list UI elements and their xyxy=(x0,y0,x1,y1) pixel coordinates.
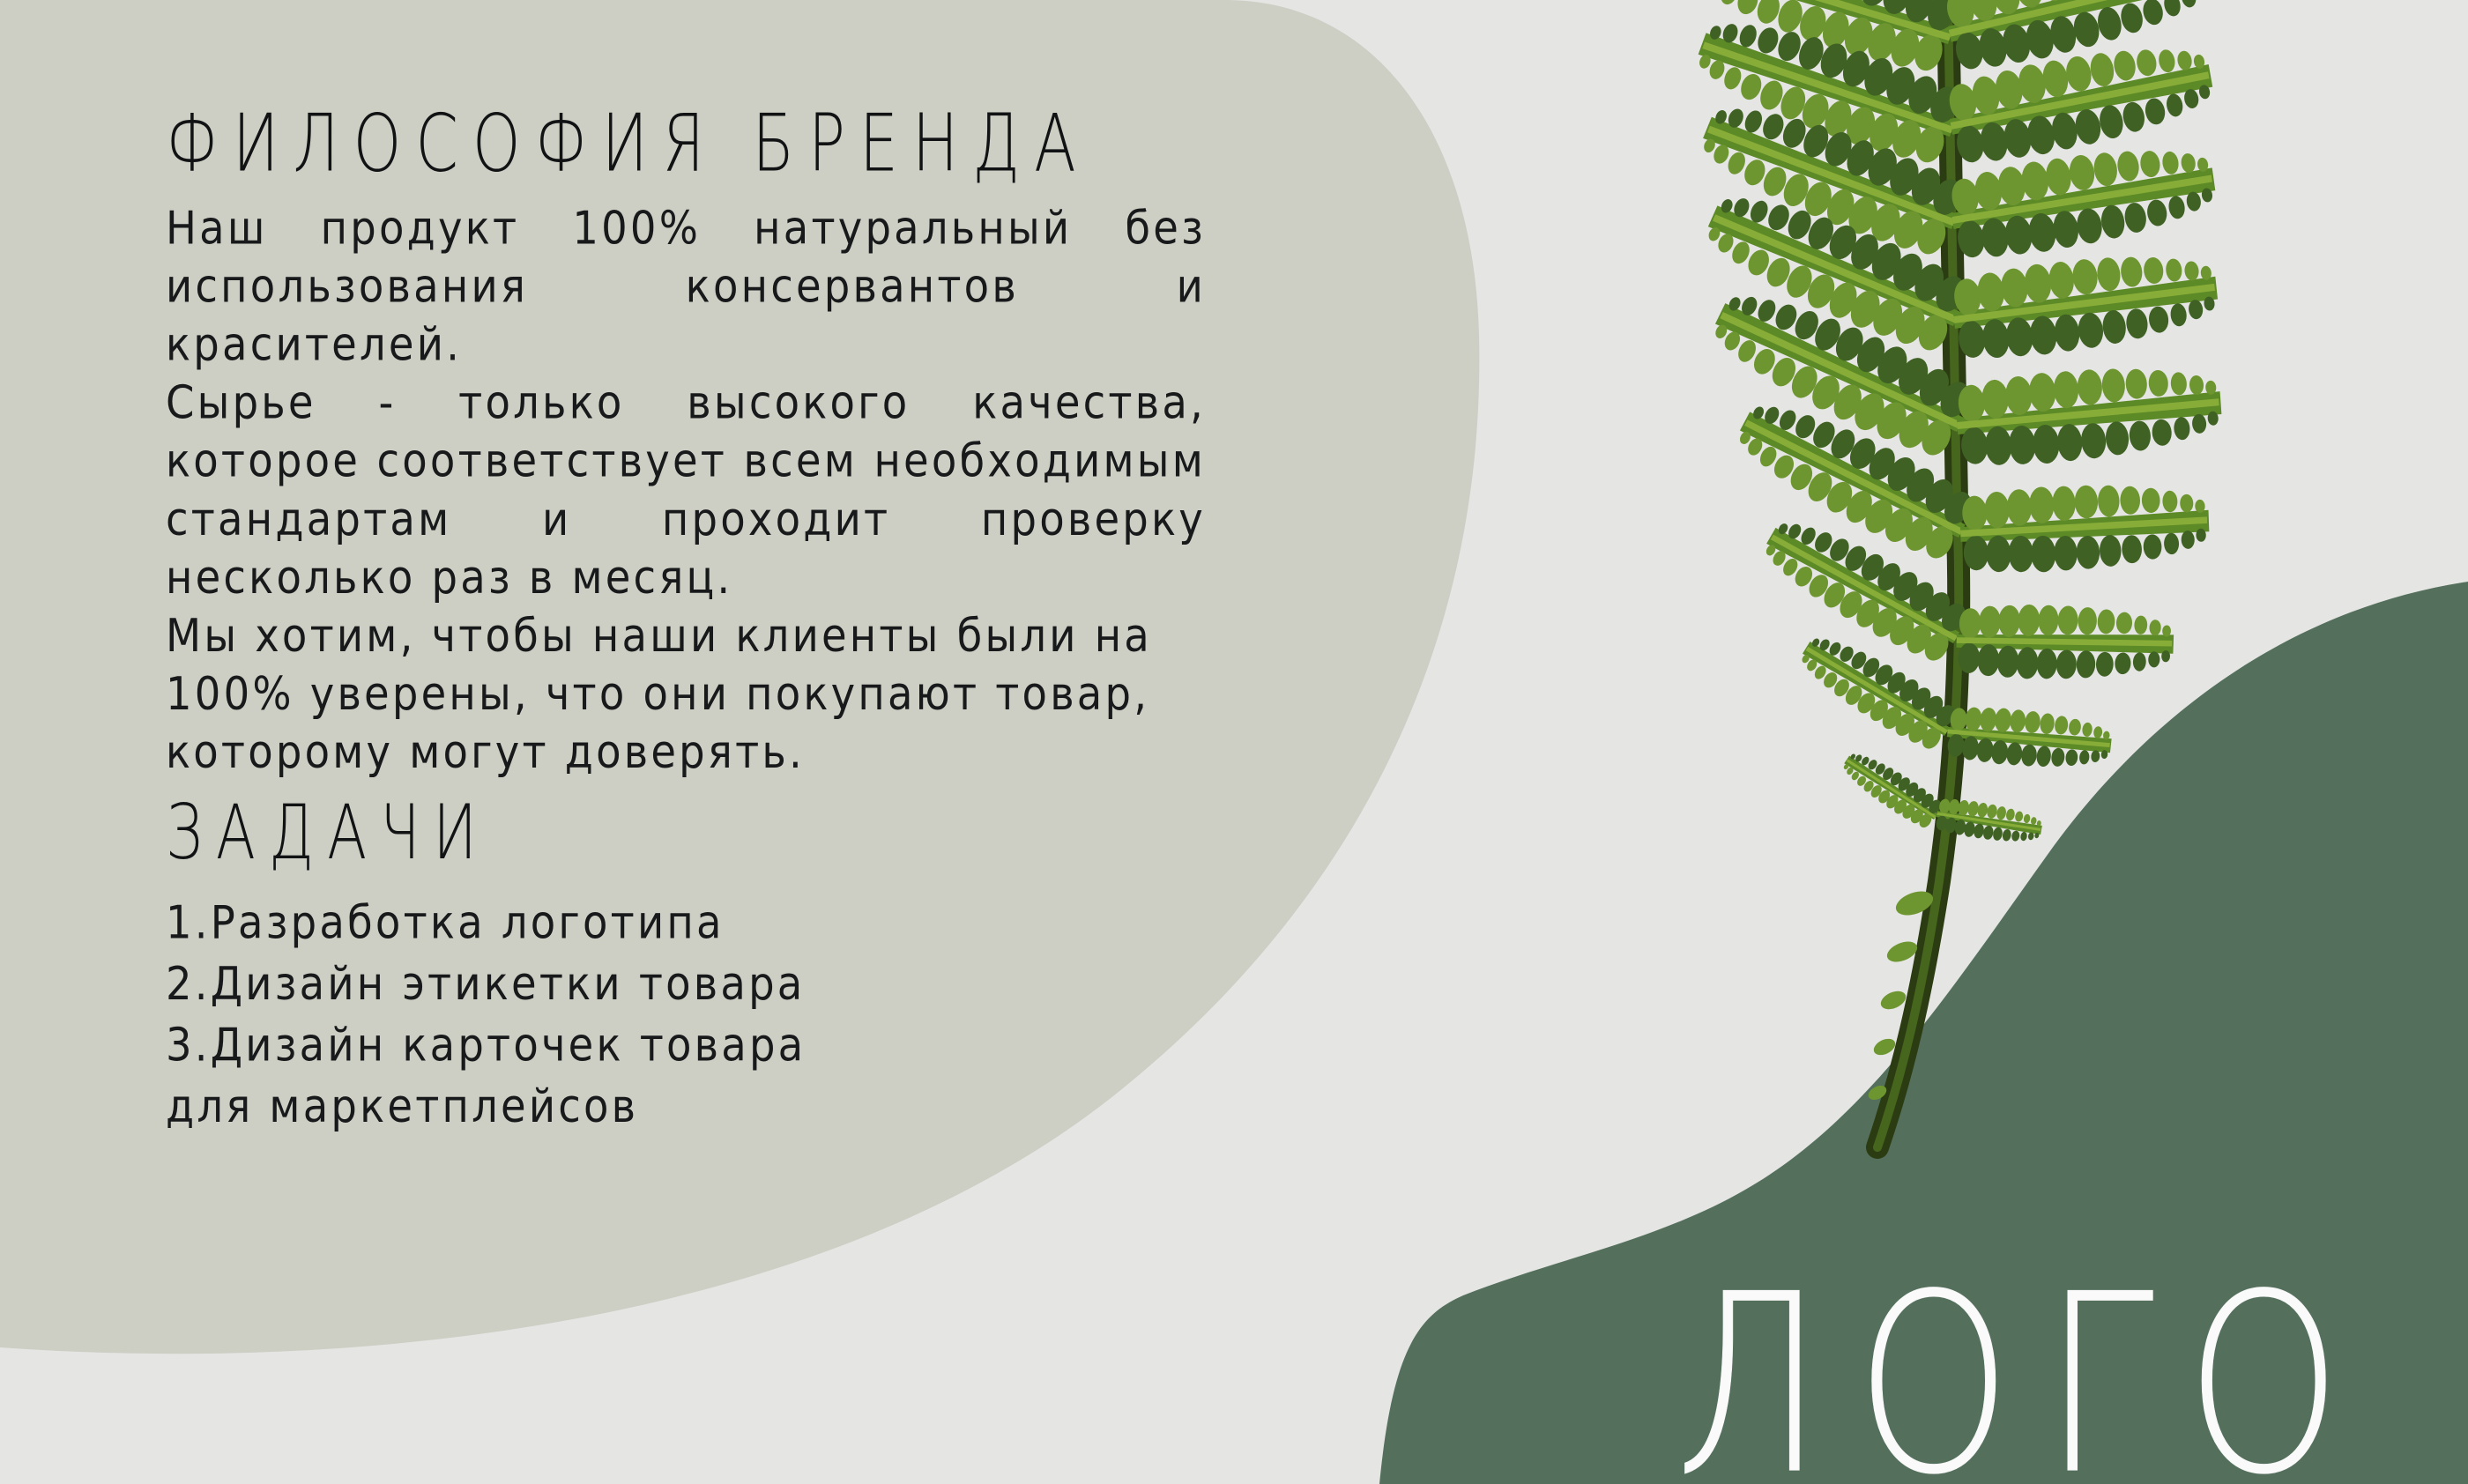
fern-illustration xyxy=(1463,0,2468,1172)
philosophy-body: Наш продукт 100% натуральный без использ… xyxy=(166,199,1206,782)
tasks-list: 1.Разработка логотипа 2.Дизайн этикетки … xyxy=(166,892,1243,1137)
tasks-section: ЗАДАЧИ 1.Разработка логотипа 2.Дизайн эт… xyxy=(166,795,1243,1110)
tasks-heading: ЗАДАЧИ xyxy=(166,795,1178,870)
content-column: ФИЛОСОФИЯ БРЕНДА Наш продукт 100% натура… xyxy=(166,104,1243,1110)
logo-wordmark: ЛОГО xyxy=(1675,1262,2374,1484)
task-item-1: 1.Разработка логотипа xyxy=(166,892,1243,953)
philosophy-paragraph-3: Мы хотим, чтобы наши клиенты были на 100… xyxy=(166,607,1206,782)
fern-pinnae-right xyxy=(1934,0,2224,850)
slide-canvas: ФИЛОСОФИЯ БРЕНДА Наш продукт 100% натура… xyxy=(0,0,2468,1484)
fern-pinnae-left xyxy=(1681,0,1981,833)
task-item-2: 2.Дизайн этикетки товара xyxy=(166,953,1243,1013)
task-item-3-cont: для маркетплейсов xyxy=(166,1075,1243,1136)
task-item-3: 3.Дизайн карточек товара xyxy=(166,1014,1243,1075)
philosophy-paragraph-2: Сырье - только высокого качества, которо… xyxy=(166,374,1206,606)
philosophy-paragraph-1: Наш продукт 100% натуральный без использ… xyxy=(166,199,1206,374)
philosophy-heading: ФИЛОСОФИЯ БРЕНДА xyxy=(166,104,1178,183)
